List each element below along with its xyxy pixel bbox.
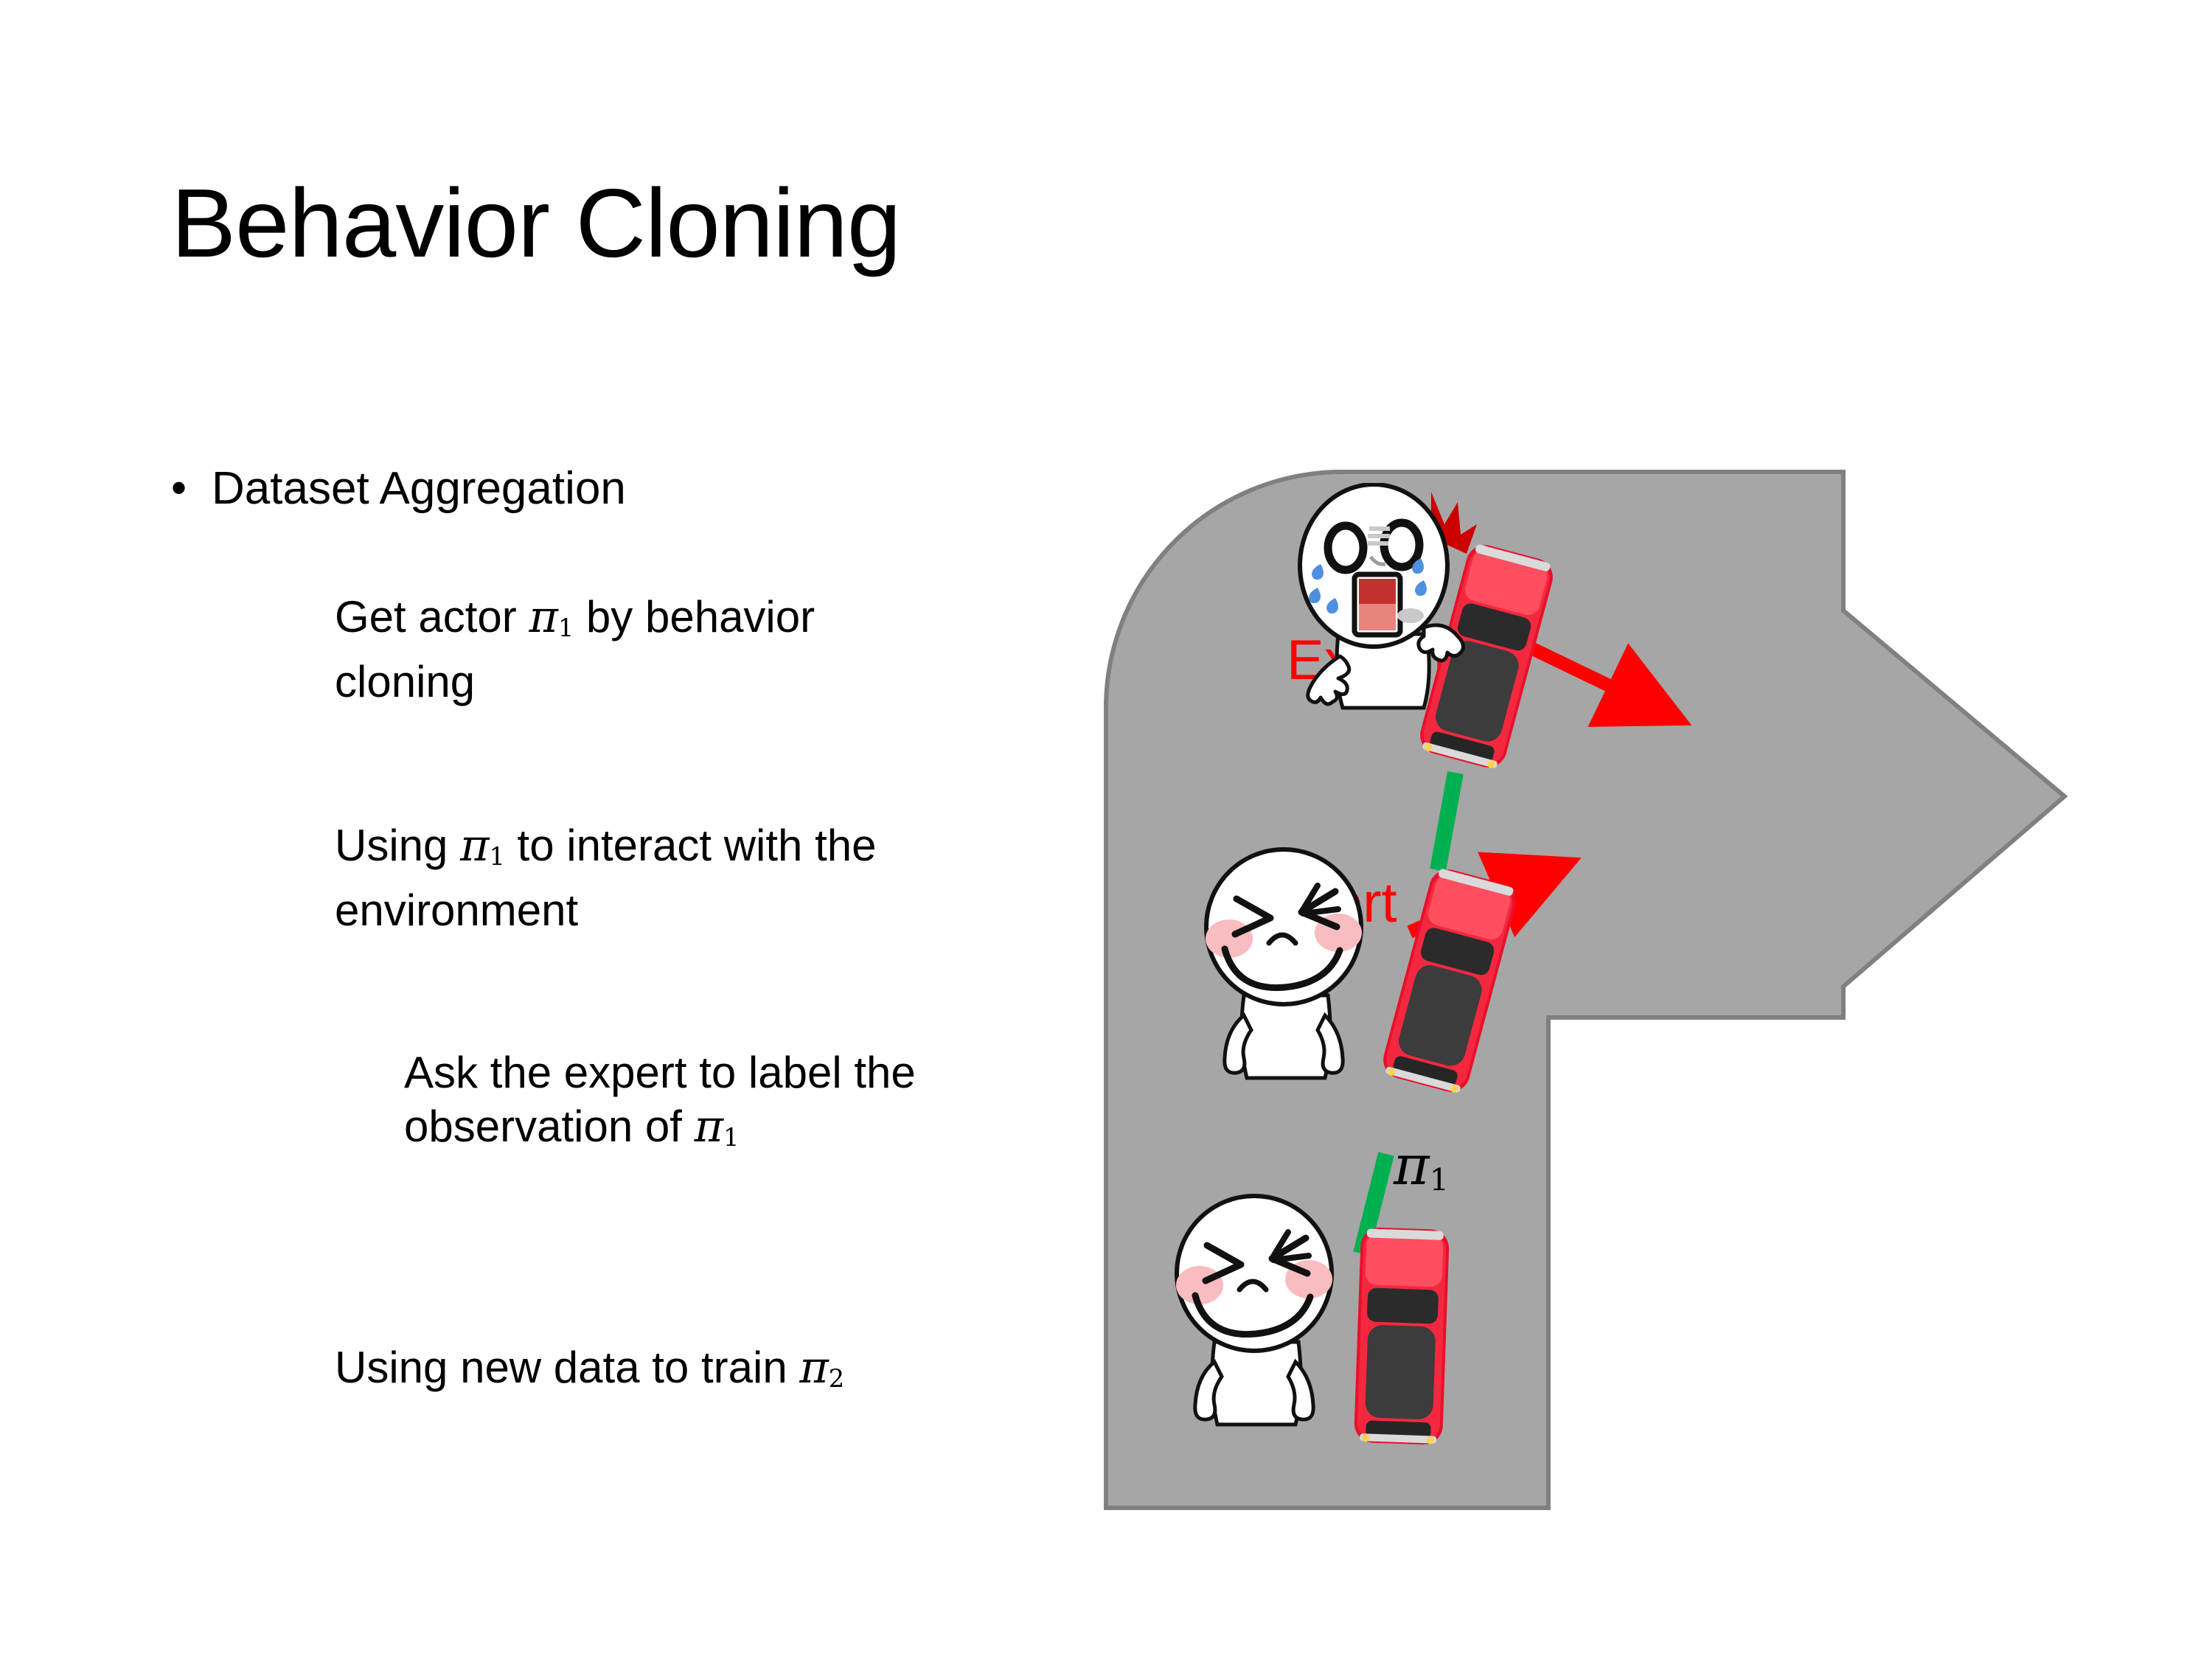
character-happy-bottom bbox=[1169, 1191, 1353, 1434]
blush-icon bbox=[1206, 919, 1253, 958]
slide-canvas: Behavior Cloning • Dataset Aggregation G… bbox=[0, 0, 2212, 1659]
trajectory-label-subscript: 1 bbox=[1430, 1162, 1449, 1197]
sub-item-using-pi-interact: Using π1 to interact with the environmen… bbox=[335, 818, 947, 937]
character-panicked bbox=[1287, 483, 1486, 734]
pi-symbol: π1 bbox=[695, 1101, 740, 1152]
sub-item-using-pi-text-before: Using bbox=[335, 821, 460, 870]
sub-item-ask-expert: Ask the expert to label the observation … bbox=[404, 1046, 1009, 1164]
pi-symbol: π1 bbox=[460, 820, 505, 872]
pi-symbol: π1 bbox=[529, 591, 574, 643]
sub-item-ask-expert-text-before: Ask the expert to label the observation … bbox=[404, 1048, 916, 1151]
pi-subscript: 2 bbox=[829, 1364, 844, 1393]
pi-glyph: π bbox=[460, 820, 489, 872]
sub-item-using-new-data: Using new data to train π2 bbox=[335, 1340, 895, 1405]
pi-subscript: 1 bbox=[490, 842, 505, 871]
sub-item-using-new-data-text-before: Using new data to train bbox=[335, 1343, 799, 1392]
pi-glyph: π bbox=[799, 1342, 828, 1394]
pi-glyph: π bbox=[695, 1101, 723, 1152]
pi-subscript: 1 bbox=[723, 1123, 739, 1152]
pi-subscript: 1 bbox=[558, 613, 574, 642]
car-bottom bbox=[1349, 1224, 1454, 1448]
character-happy-middle bbox=[1198, 844, 1382, 1088]
page-title: Behavior Cloning bbox=[171, 168, 900, 279]
sub-item-get-actor: Get actor π1 by behavior cloning bbox=[335, 590, 895, 709]
pi-glyph: π bbox=[529, 591, 557, 643]
bullet-marker-icon: • bbox=[171, 462, 187, 515]
bullet-dataset-aggregation: • Dataset Aggregation bbox=[171, 462, 626, 516]
sub-item-get-actor-text-before: Get actor bbox=[335, 592, 529, 641]
pi-symbol: π2 bbox=[799, 1342, 844, 1394]
trajectory-label-glyph: π bbox=[1394, 1134, 1430, 1197]
blush-icon bbox=[1176, 1266, 1223, 1304]
trajectory-label: π1 bbox=[1394, 1134, 1449, 1197]
bullet-label: Dataset Aggregation bbox=[212, 462, 626, 516]
